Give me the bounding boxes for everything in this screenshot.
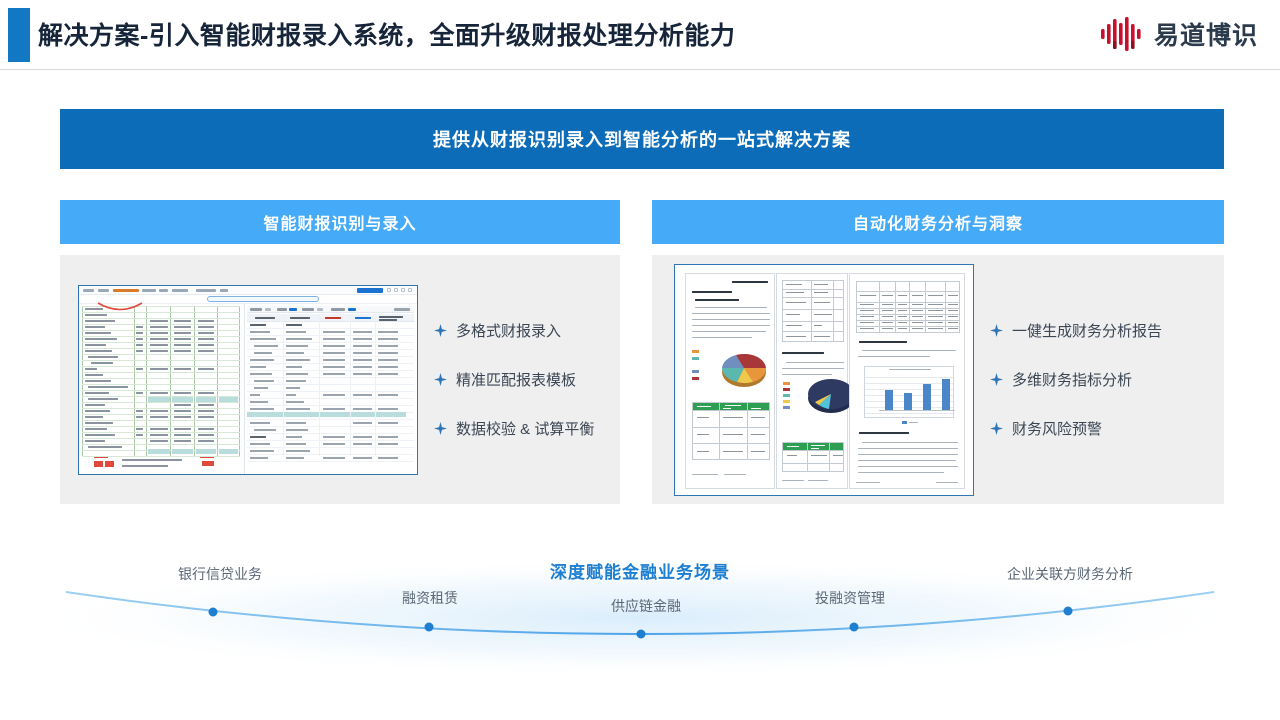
mockup-table-header <box>247 314 414 322</box>
mockup-primary-button <box>357 288 383 293</box>
scenario-dot-0 <box>209 608 218 617</box>
logo-text: 易道博识 <box>1154 16 1258 52</box>
scenario-section: 深度赋能金融业务场景 银行信贷业务 融资租赁 供应链金融 投融资管理 企业关联方… <box>0 540 1280 690</box>
bar-plot-area <box>879 375 949 410</box>
bullet-label: 精准匹配报表模板 <box>456 369 576 390</box>
report-page-2 <box>776 273 848 489</box>
header-accent-bar <box>8 8 30 62</box>
bullet-item: 财务风险预警 <box>990 418 1224 439</box>
bullet-item: 数据校验 & 试算平衡 <box>434 418 620 439</box>
column-analysis-body: 一健生成财务分析报告 多维财务指标分析 财务风险预警 <box>652 255 1224 504</box>
diamond-bullet-icon <box>990 373 1003 386</box>
scenario-label-0: 银行信贷业务 <box>178 564 262 584</box>
spreadsheet-app-mockup <box>78 285 418 475</box>
bullet-item: 精准匹配报表模板 <box>434 369 620 390</box>
diamond-bullet-icon <box>434 324 447 337</box>
annotation-arc-icon <box>96 302 144 314</box>
bullet-label: 多格式财报录入 <box>456 320 561 341</box>
analysis-report-mockup <box>674 264 974 496</box>
brand-logo: 易道博识 <box>1100 14 1258 54</box>
column-recognition-title: 智能财报识别与录入 <box>263 210 416 234</box>
solution-banner-text: 提供从财报识别录入到智能分析的一站式解决方案 <box>433 126 851 152</box>
column-analysis-title: 自动化财务分析与洞察 <box>853 210 1023 234</box>
bullet-label: 多维财务指标分析 <box>1012 369 1132 390</box>
scenario-label-3: 投融资管理 <box>815 588 885 608</box>
report-table-3 <box>782 442 844 472</box>
report-table-1 <box>692 402 770 460</box>
column-recognition-body: 多格式财报录入 精准匹配报表模板 数据校验 & 试算平衡 <box>60 255 620 504</box>
bullet-item: 多维财务指标分析 <box>990 369 1224 390</box>
mockup-sheet-grid <box>82 306 240 456</box>
diamond-bullet-icon <box>434 373 447 386</box>
diamond-bullet-icon <box>434 422 447 435</box>
scenario-dot-4 <box>1064 607 1073 616</box>
report-table-4 <box>856 281 960 333</box>
spreadsheet-mockup-wrap <box>60 285 418 475</box>
bar-chart <box>864 366 954 418</box>
slide-header: 解决方案-引入智能财报录入系统，全面升级财报处理分析能力 易道博识 <box>0 0 1280 70</box>
recognition-bullet-list: 多格式财报录入 精准匹配报表模板 数据校验 & 试算平衡 <box>418 320 620 439</box>
pie-chart-1 <box>714 346 772 392</box>
mockup-detail-table <box>247 306 414 464</box>
diamond-bullet-icon <box>990 422 1003 435</box>
mockup-split-divider <box>244 304 245 475</box>
report-mockup-wrap <box>652 264 974 496</box>
analysis-bullet-list: 一健生成财务分析报告 多维财务指标分析 财务风险预警 <box>974 320 1224 439</box>
bullet-item: 多格式财报录入 <box>434 320 620 341</box>
mockup-toolbar <box>79 286 417 295</box>
scenario-dot-3 <box>850 623 859 632</box>
logo-bars-icon <box>1100 17 1146 51</box>
mockup-sheet-footer <box>82 455 240 472</box>
scenario-label-2: 供应链金融 <box>611 596 681 616</box>
bullet-label: 财务风险预警 <box>1012 418 1102 439</box>
bullet-label: 数据校验 & 试算平衡 <box>456 418 594 439</box>
column-analysis-header: 自动化财务分析与洞察 <box>652 200 1224 244</box>
column-recognition-header: 智能财报识别与录入 <box>60 200 620 244</box>
mockup-search-pill <box>207 296 319 302</box>
scenario-label-1: 融资租赁 <box>402 588 458 608</box>
report-page-3 <box>849 273 965 489</box>
scenario-label-4: 企业关联方财务分析 <box>1007 564 1133 584</box>
solution-banner: 提供从财报识别录入到智能分析的一站式解决方案 <box>60 109 1224 169</box>
bullet-label: 一健生成财务分析报告 <box>1012 320 1162 341</box>
scenario-dot-1 <box>425 623 434 632</box>
column-analysis: 自动化财务分析与洞察 <box>652 200 1224 504</box>
page-title: 解决方案-引入智能财报录入系统，全面升级财报处理分析能力 <box>38 16 735 52</box>
report-page-1 <box>685 273 775 489</box>
header-divider <box>0 69 1280 70</box>
report-table-2 <box>782 280 844 342</box>
scenario-dot-2 <box>637 630 646 639</box>
bullet-item: 一健生成财务分析报告 <box>990 320 1224 341</box>
column-recognition: 智能财报识别与录入 <box>60 200 620 504</box>
diamond-bullet-icon <box>990 324 1003 337</box>
mockup-filter-row <box>247 306 414 313</box>
